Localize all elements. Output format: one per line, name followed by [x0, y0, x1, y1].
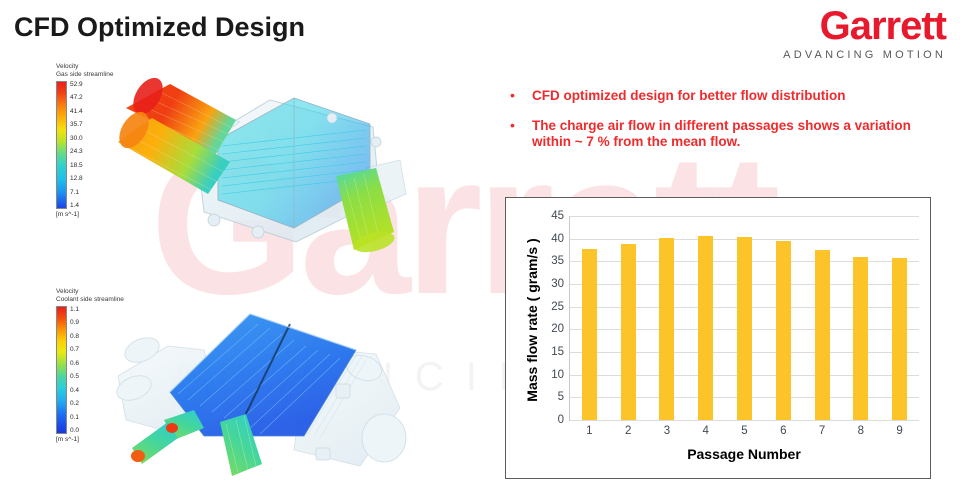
- y-axis-tick: 5: [558, 391, 564, 403]
- bar: [698, 236, 713, 421]
- cfd-gas-side-svg: [118, 72, 408, 262]
- page-title: CFD Optimized Design: [14, 12, 305, 43]
- legend-tick: 12.8: [70, 175, 83, 182]
- plot-area: 454035302520151050123456789: [569, 216, 919, 421]
- legend-tick: 0.7: [70, 346, 79, 353]
- legend-tick: 1.1: [70, 306, 79, 313]
- logo-tagline: ADVANCING MOTION: [783, 50, 946, 61]
- legend-tick: 0.0: [70, 427, 79, 434]
- garrett-logo: Garrett ADVANCING MOTION: [783, 6, 946, 61]
- bar: [776, 241, 791, 420]
- slide-canvas: Garrett ADVANCING MOTION CFD Optimized D…: [0, 0, 960, 500]
- legend-title-line2: Coolant side streamline: [56, 296, 124, 304]
- legend-title-line1: Velocity: [56, 63, 113, 71]
- legend-tick: 0.6: [70, 360, 79, 367]
- cfd-coolant-side-figure: [108, 288, 408, 483]
- y-axis-tick: 35: [551, 255, 564, 267]
- logo-wordmark: Garrett: [783, 6, 946, 46]
- colorbar-coolant-side: [56, 306, 67, 434]
- legend-tick: 41.4: [70, 108, 83, 115]
- legend-body: 1.1 0.9 0.8 0.7 0.6 0.5 0.4 0.2 0.1 0.0: [56, 306, 124, 434]
- bullet-list: • CFD optimized design for better flow d…: [506, 88, 946, 164]
- legend-tick: 30.0: [70, 135, 83, 142]
- cfd-gas-side-figure: [118, 72, 408, 262]
- bar: [621, 244, 636, 420]
- colorbar-gas-side: [56, 81, 67, 209]
- gridline: [570, 420, 919, 421]
- legend-tick: 52.9: [70, 81, 83, 88]
- bullet-text: CFD optimized design for better flow dis…: [532, 88, 946, 104]
- bar: [892, 258, 907, 420]
- y-axis-tick: 0: [558, 414, 564, 426]
- x-axis-tick: 6: [780, 425, 786, 437]
- bar: [853, 257, 868, 420]
- x-axis-tick: 1: [586, 425, 592, 437]
- legend-tick: 24.3: [70, 148, 83, 155]
- legend-title-line1: Velocity: [56, 288, 124, 296]
- cfd-coolant-side-svg: [108, 288, 408, 483]
- x-axis-tick: 3: [664, 425, 670, 437]
- gridline: [570, 216, 919, 217]
- legend-tick: 18.5: [70, 162, 83, 169]
- bar: [737, 237, 752, 420]
- bar: [815, 250, 830, 420]
- x-axis-tick: 7: [819, 425, 825, 437]
- y-axis-tick: 30: [551, 278, 564, 290]
- legend-tick: 0.5: [70, 373, 79, 380]
- legend-unit: [m s^-1]: [56, 436, 124, 443]
- bar: [659, 238, 674, 420]
- legend-tick: 7.1: [70, 189, 83, 196]
- y-axis-tick: 25: [551, 301, 564, 313]
- y-axis-tick: 10: [551, 369, 564, 381]
- legend-tick-labels: 52.9 47.2 41.4 35.7 30.0 24.3 18.5 12.8 …: [70, 81, 83, 209]
- mass-flow-bar-chart: Mass flow rate ( gram/s ) 45403530252015…: [505, 197, 931, 479]
- x-axis-tick: 4: [703, 425, 709, 437]
- bullet-dot-icon: •: [506, 88, 532, 103]
- legend-tick: 47.2: [70, 94, 83, 101]
- legend-tick: 0.2: [70, 400, 79, 407]
- legend-title-line2: Gas side streamline: [56, 71, 113, 79]
- list-item: • CFD optimized design for better flow d…: [506, 88, 946, 104]
- y-axis-label: Mass flow rate ( gram/s ): [524, 210, 546, 430]
- bullet-text: The charge air flow in different passage…: [532, 118, 946, 150]
- legend-gas-side: Velocity Gas side streamline 52.9 47.2 4…: [56, 63, 113, 218]
- legend-tick: 0.1: [70, 414, 79, 421]
- x-axis-tick: 8: [858, 425, 864, 437]
- x-axis-tick: 9: [896, 425, 902, 437]
- list-item: • The charge air flow in different passa…: [506, 118, 946, 150]
- legend-unit: [m s^-1]: [56, 211, 113, 218]
- legend-tick-labels: 1.1 0.9 0.8 0.7 0.6 0.5 0.4 0.2 0.1 0.0: [70, 306, 79, 434]
- legend-tick: 0.9: [70, 319, 79, 326]
- y-axis-tick: 20: [551, 323, 564, 335]
- x-axis-tick: 2: [625, 425, 631, 437]
- y-axis-tick: 45: [551, 210, 564, 222]
- x-axis-label: Passage Number: [569, 446, 919, 462]
- legend-tick: 1.4: [70, 202, 83, 209]
- legend-tick: 0.8: [70, 333, 79, 340]
- chart-inner: Mass flow rate ( gram/s ) 45403530252015…: [506, 198, 930, 478]
- legend-tick: 35.7: [70, 121, 83, 128]
- bullet-dot-icon: •: [506, 118, 532, 133]
- legend-tick: 0.4: [70, 387, 79, 394]
- legend-body: 52.9 47.2 41.4 35.7 30.0 24.3 18.5 12.8 …: [56, 81, 113, 209]
- bar: [582, 249, 597, 420]
- x-axis-tick: 5: [741, 425, 747, 437]
- y-axis-tick: 15: [551, 346, 564, 358]
- y-axis-tick: 40: [551, 233, 564, 245]
- legend-coolant-side: Velocity Coolant side streamline 1.1 0.9…: [56, 288, 124, 443]
